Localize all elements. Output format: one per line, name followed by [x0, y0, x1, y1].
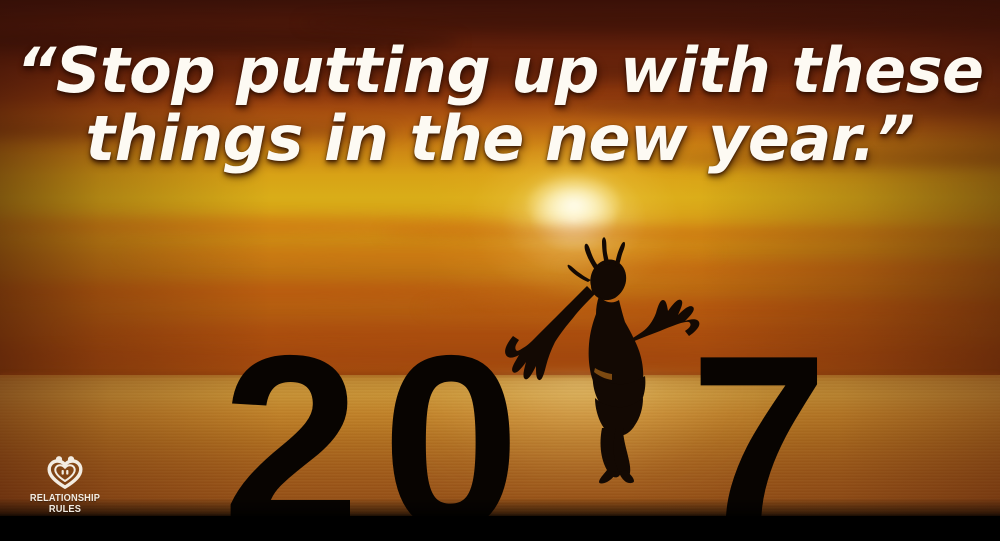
- quote-line-2: things in the new year.”: [0, 104, 1000, 174]
- quote-line-1: “Stop putting up with these: [0, 36, 1000, 106]
- bottom-fade: [0, 498, 1000, 518]
- quote-text: “Stop putting up with these things in th…: [0, 36, 1000, 174]
- poster-image: 2 0 7: [0, 0, 1000, 541]
- jumping-person-silhouette: [495, 222, 735, 484]
- heart-with-two-dots-icon: [46, 455, 84, 489]
- brand-logo[interactable]: RELATIONSHIP RULES: [22, 455, 108, 515]
- bottom-black-bar: [0, 516, 1000, 541]
- logo-wordmark-line2: RULES: [27, 504, 103, 515]
